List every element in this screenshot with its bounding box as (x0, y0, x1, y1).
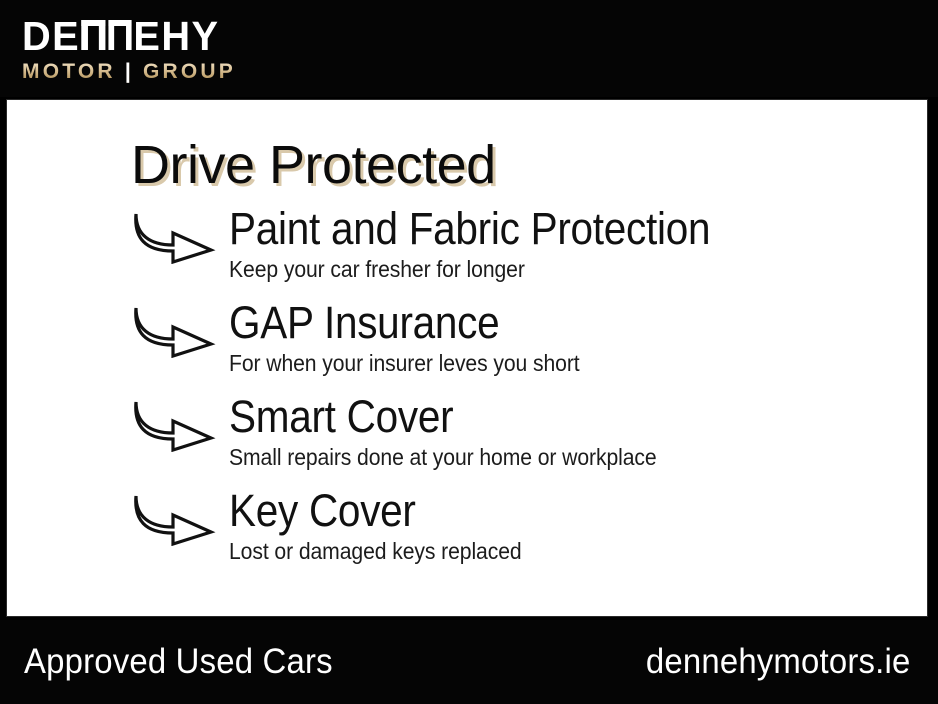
feature-subtitle: For when your insurer leves you short (229, 350, 580, 377)
list-item: Key Cover Lost or damaged keys replaced (7, 486, 927, 580)
feature-title: GAP Insurance (229, 298, 572, 348)
advert-banner: DEEHY MOTOR | GROUP Drive Protected Pain… (0, 0, 938, 704)
curved-right-arrow-icon (133, 494, 217, 546)
feature-title: Smart Cover (229, 392, 647, 442)
feature-title: Key Cover (229, 486, 515, 536)
feature-title: Paint and Fabric Protection (229, 204, 710, 254)
list-item: GAP Insurance For when your insurer leve… (7, 298, 927, 392)
brand-wordmark: DEEHY (22, 14, 245, 58)
content-panel: Drive Protected Paint and Fabric Protect… (6, 99, 928, 617)
list-item-text: Smart Cover Small repairs done at your h… (229, 392, 694, 471)
footer-approved-used-cars-label: Approved Used Cars (24, 642, 333, 682)
feature-subtitle: Small repairs done at your home or workp… (229, 444, 657, 471)
curved-right-arrow-icon (133, 400, 217, 452)
brand-tagline-divider-icon: | (125, 60, 134, 83)
feature-list: Paint and Fabric Protection Keep your ca… (7, 204, 927, 580)
list-item: Paint and Fabric Protection Keep your ca… (7, 204, 927, 298)
list-item-text: Paint and Fabric Protection Keep your ca… (229, 204, 764, 283)
curved-right-arrow-icon (133, 306, 217, 358)
feature-subtitle: Keep your car fresher for longer (229, 256, 721, 283)
feature-subtitle: Lost or damaged keys replaced (229, 538, 522, 565)
brand-wordmark-part-1: DE (22, 13, 80, 59)
header-band: DEEHY MOTOR | GROUP (0, 0, 938, 97)
list-item-text: GAP Insurance For when your insurer leve… (229, 298, 610, 377)
brand-tagline: MOTOR | GROUP (22, 60, 252, 84)
footer-band: Approved Used Cars dennehymotors.ie (0, 620, 938, 704)
brand-squared-n-glyph-2 (108, 20, 132, 50)
brand-tagline-group: GROUP (143, 60, 236, 83)
list-item-text: Key Cover Lost or damaged keys replaced (229, 486, 547, 565)
page-title: Drive Protected (131, 136, 496, 194)
brand-squared-n-glyph-1 (82, 20, 106, 50)
footer-website-link[interactable]: dennehymotors.ie (645, 642, 910, 682)
brand-wordmark-part-2: EHY (133, 13, 219, 59)
brand-tagline-motor: MOTOR (22, 60, 116, 83)
brand-logo[interactable]: DEEHY MOTOR | GROUP (22, 14, 252, 84)
list-item: Smart Cover Small repairs done at your h… (7, 392, 927, 486)
curved-right-arrow-icon (133, 212, 217, 264)
